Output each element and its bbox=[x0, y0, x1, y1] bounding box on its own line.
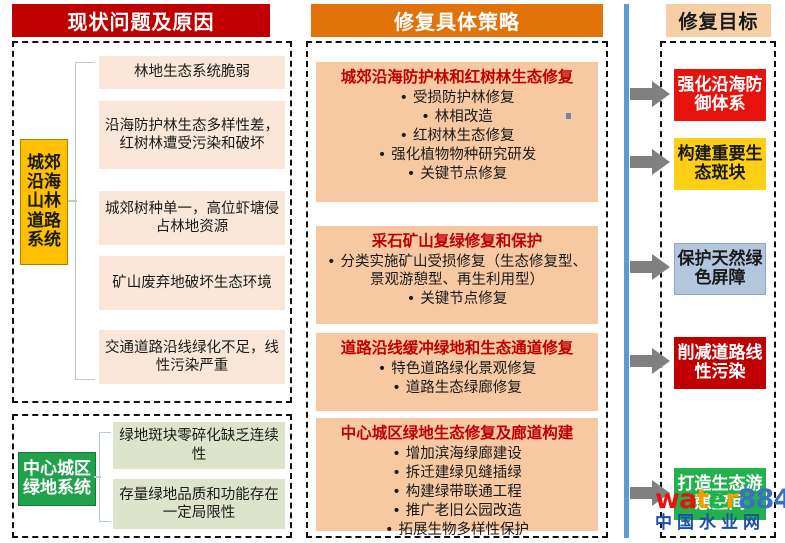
strategy-item: 构建绿带联通工程 bbox=[320, 483, 594, 502]
strategy-item-list: 增加滨海绿廊建设 拆迁建绿见缝插绿 构建绿带联通工程 推广老旧公园改造 拓展生物… bbox=[320, 445, 594, 541]
bracket-coastal bbox=[75, 62, 95, 380]
bracket-stem-coastal bbox=[68, 200, 77, 202]
arrow-right-icon bbox=[630, 147, 670, 177]
category-central-city-green-system: 中心城区绿地系统 bbox=[18, 452, 96, 506]
goal-box: 强化沿海防御体系 bbox=[674, 69, 766, 121]
column-divider bbox=[624, 4, 629, 538]
strategy-item: 拓展生物多样性保护 bbox=[320, 521, 594, 540]
strategy-item: 红树林生态修复 bbox=[320, 127, 594, 146]
strategy-item: 增加滨海绿廊建设 bbox=[320, 445, 594, 464]
strategy-block: 采石矿山复绿修复和保护 分类实施矿山受损修复（生态修复型、景观游憩型、再生利用型… bbox=[316, 226, 598, 324]
arrow-right-icon bbox=[630, 346, 670, 376]
strategy-title: 中心城区绿地生态修复及廊道构建 bbox=[320, 424, 594, 443]
strategy-item-list: 受损防护林修复 林相改造 红树林生态修复 强化植物物种研究研发 关键节点修复 bbox=[320, 89, 594, 185]
column-header-problems: 现状问题及原因 bbox=[12, 4, 270, 37]
arrow-right-icon bbox=[630, 478, 670, 508]
strategy-item: 强化植物物种研究研发 bbox=[320, 146, 594, 165]
problem-item: 绿地斑块零碎化缺乏连续性 bbox=[113, 422, 285, 469]
strategy-block: 中心城区绿地生态修复及廊道构建 增加滨海绿廊建设 拆迁建绿见缝插绿 构建绿带联通… bbox=[316, 418, 598, 531]
goal-box: 构建重要生态斑块 bbox=[674, 138, 766, 190]
strategy-title: 采石矿山复绿修复和保护 bbox=[320, 232, 594, 251]
strategy-item: 推广老旧公园改造 bbox=[320, 502, 594, 521]
diagram-canvas: 现状问题及原因 修复具体策略 修复目标 城郊沿海山林道路系统 中心城区绿地系统 … bbox=[0, 0, 785, 543]
problem-item: 交通道路沿线绿化不足，线性污染严重 bbox=[99, 330, 285, 384]
image-artifact-speck bbox=[566, 113, 571, 119]
strategy-item: 受损防护林修复 bbox=[320, 89, 594, 108]
arrow-right-icon bbox=[630, 252, 670, 282]
problem-item: 沿海防护林生态多样性差，红树林遭受污染和破坏 bbox=[99, 101, 285, 169]
strategy-item: 道路生态绿廊修复 bbox=[320, 379, 594, 398]
strategy-item: 分类实施矿山受损修复（生态修复型、景观游憩型、再生利用型） bbox=[320, 253, 594, 290]
column-header-strategy: 修复具体策略 bbox=[311, 4, 603, 37]
strategy-block: 城郊沿海防护林和红树林生态修复 受损防护林修复 林相改造 红树林生态修复 强化植… bbox=[316, 62, 598, 202]
category-coastal-forest-road-system: 城郊沿海山林道路系统 bbox=[20, 139, 68, 265]
strategy-item: 关键节点修复 bbox=[320, 165, 594, 184]
strategy-item: 林相改造 bbox=[320, 108, 594, 127]
goal-box: 打造生态游憩空间 bbox=[674, 468, 766, 520]
problem-item: 存量绿地品质和功能存在一定局限性 bbox=[113, 479, 285, 529]
arrow-right-icon bbox=[630, 79, 670, 109]
strategy-title: 城郊沿海防护林和红树林生态修复 bbox=[320, 68, 594, 87]
strategy-block: 道路沿线缓冲绿地和生态通道修复 特色道路绿化景观修复 道路生态绿廊修复 bbox=[316, 333, 598, 411]
problem-item: 林地生态系统脆弱 bbox=[99, 56, 285, 89]
strategy-item: 特色道路绿化景观修复 bbox=[320, 360, 594, 379]
bracket-stem-central bbox=[94, 476, 101, 478]
strategy-item-list: 特色道路绿化景观修复 道路生态绿廊修复 bbox=[320, 360, 594, 398]
strategy-item: 关键节点修复 bbox=[320, 290, 594, 309]
strategy-title: 道路沿线缓冲绿地和生态通道修复 bbox=[320, 339, 594, 358]
problem-item: 城郊树种单一，高位虾塘侵占林地资源 bbox=[99, 191, 285, 245]
strategy-item-list: 分类实施矿山受损修复（生态修复型、景观游憩型、再生利用型） 关键节点修复 bbox=[320, 253, 594, 309]
strategy-item: 拆迁建绿见缝插绿 bbox=[320, 464, 594, 483]
goal-box: 保护天然绿色屏障 bbox=[674, 243, 766, 295]
problem-item: 矿山废弃地破坏生态环境 bbox=[99, 256, 285, 310]
goal-box: 削减道路线性污染 bbox=[674, 337, 766, 389]
column-header-goal: 修复目标 bbox=[666, 4, 771, 37]
